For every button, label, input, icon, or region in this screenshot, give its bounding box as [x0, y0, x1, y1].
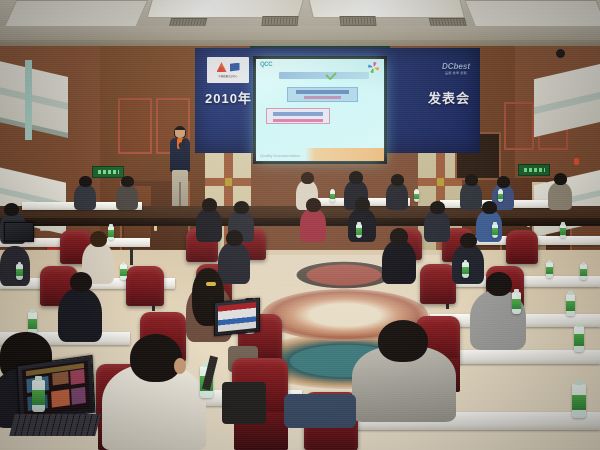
hvac-vent-3 [339, 16, 376, 26]
laptop-screen-content-r4 [218, 302, 256, 332]
laptop-thumb-5 [51, 389, 70, 407]
exit-sign-right [518, 164, 550, 176]
attendee-r3-2-head [226, 230, 243, 246]
slide-logo-text: QCC [260, 62, 272, 68]
bottled-water-far-3 [498, 190, 503, 202]
cqc-triangle-icon [217, 62, 227, 72]
audience-row-front [0, 338, 600, 450]
slide-burst-icon [368, 62, 379, 73]
bottled-water-r2-3 [492, 224, 498, 238]
sponsor-logo-tagline: 品质 效率 创新 [442, 71, 470, 75]
attendee-r2-7-head [4, 203, 19, 216]
bottled-water-r4-3 [566, 294, 575, 316]
attendee-r2-3-head [306, 198, 321, 212]
organizer-logo-left: 中国质量认证中心 [207, 57, 249, 83]
projection-screen-frame: QCC Quality Documentation [253, 56, 387, 164]
attendee-front-3-jeans [284, 394, 356, 428]
bottled-water-front-1 [32, 380, 45, 412]
shoulder-bag-front [222, 382, 266, 424]
attendee-r4-3-head [486, 272, 512, 296]
attendee-r4-1-head [70, 272, 92, 292]
attendee-far-4-head [465, 174, 478, 186]
bottled-water-r3-3 [462, 262, 469, 278]
slide-content-box-primary [287, 87, 358, 102]
banner-event-text: 发表会 [428, 88, 470, 107]
wall-accent-panel-left-1 [118, 98, 152, 154]
attendee-r3-3 [382, 240, 416, 284]
ceiling-tile-left [4, 0, 148, 28]
attendee-r3-1-head [90, 231, 107, 247]
bottled-water-front-3 [572, 384, 586, 418]
attendee-far-7-head [79, 176, 92, 187]
slide-content-box-secondary [266, 108, 329, 124]
attendee-far-5-head [497, 176, 510, 188]
attendee-front-1-ear [174, 358, 186, 374]
attendee-laptop-r4[interactable] [214, 298, 260, 337]
organizer-logo-caption: 中国质量认证中心 [218, 74, 237, 78]
projection-screen: QCC Quality Documentation [256, 59, 384, 161]
conference-hall-photo: 中国质量认证中心 DCbest 品质 效率 创新 2010年 发表会 QCC Q… [0, 0, 600, 450]
attendee-r2-4-head [355, 197, 370, 212]
hair-tie [206, 282, 216, 286]
slide-footer-mark: Quality Documentation [260, 153, 300, 158]
skylight-panel-right [307, 0, 465, 18]
bottled-water-r4-2 [512, 292, 521, 314]
attendee-r2-1 [196, 208, 222, 242]
attendee-r2-1-head [202, 198, 217, 212]
attendee-front-3-head [378, 320, 428, 362]
exit-sign-left [92, 166, 124, 178]
attendee-far-8-head [121, 176, 134, 187]
bottled-water-r3-2 [120, 264, 127, 280]
slide-headline-bar [279, 72, 369, 79]
bottled-water-r3-5 [580, 264, 587, 280]
attendee-r2-6 [476, 210, 502, 242]
bottled-water-far-2 [414, 190, 419, 202]
hvac-vent-2 [261, 16, 298, 26]
wall-pilaster-left [25, 60, 32, 140]
attendee-r2-5-head [430, 201, 445, 214]
laptop-keyboard-front[interactable] [9, 414, 100, 436]
banner-year-text: 2010年 [205, 88, 252, 107]
bottled-water-far-1 [330, 190, 335, 202]
bottled-water-r4-1 [28, 312, 37, 334]
attendee-far-2-head [349, 171, 363, 184]
security-camera [556, 49, 565, 58]
attendee-r3-4-head [460, 233, 477, 248]
attendee-far-1-head [301, 172, 314, 184]
sponsor-logo-right: DCbest 品质 效率 创新 [442, 62, 470, 75]
attendee-front-1-head [130, 334, 182, 382]
bottled-water-r2-2 [356, 224, 362, 238]
bottled-water-r3-4 [546, 262, 553, 278]
presenter-face [175, 130, 185, 138]
ceiling-tile-right [464, 0, 600, 28]
bottled-water-r2-4 [560, 224, 566, 238]
microphone[interactable] [182, 139, 185, 146]
attendee-r2-4 [348, 208, 376, 242]
attendee-far-6-head [554, 173, 567, 185]
attendee-laptop-r2-left[interactable] [4, 222, 34, 242]
attendee-r2-2-head [234, 201, 249, 214]
bottled-water-r3-1 [16, 264, 23, 280]
attendee-r2-3 [300, 208, 326, 242]
attendee-r2-6-head [482, 201, 497, 214]
attendee-far-3-head [391, 174, 404, 186]
attendee-r3-3-head [390, 228, 408, 245]
attendee-laptop-front[interactable] [17, 355, 96, 423]
wall-accent-panel-right-1 [504, 102, 534, 150]
alarm-light-right [574, 158, 579, 165]
attendee-r4-1 [58, 288, 102, 342]
bottled-water-r2-1 [108, 226, 114, 240]
sponsor-logo-text: DCbest [442, 62, 470, 71]
laptop-thumb-3 [70, 369, 85, 385]
attendee-r2-5 [424, 210, 450, 242]
laptop-thumb-2 [52, 371, 69, 385]
attendee-r3-5 [0, 246, 30, 286]
cqc-flag-icon [230, 63, 240, 72]
attendee-r3-2 [218, 242, 250, 284]
laptop-thumb-6 [71, 387, 86, 405]
